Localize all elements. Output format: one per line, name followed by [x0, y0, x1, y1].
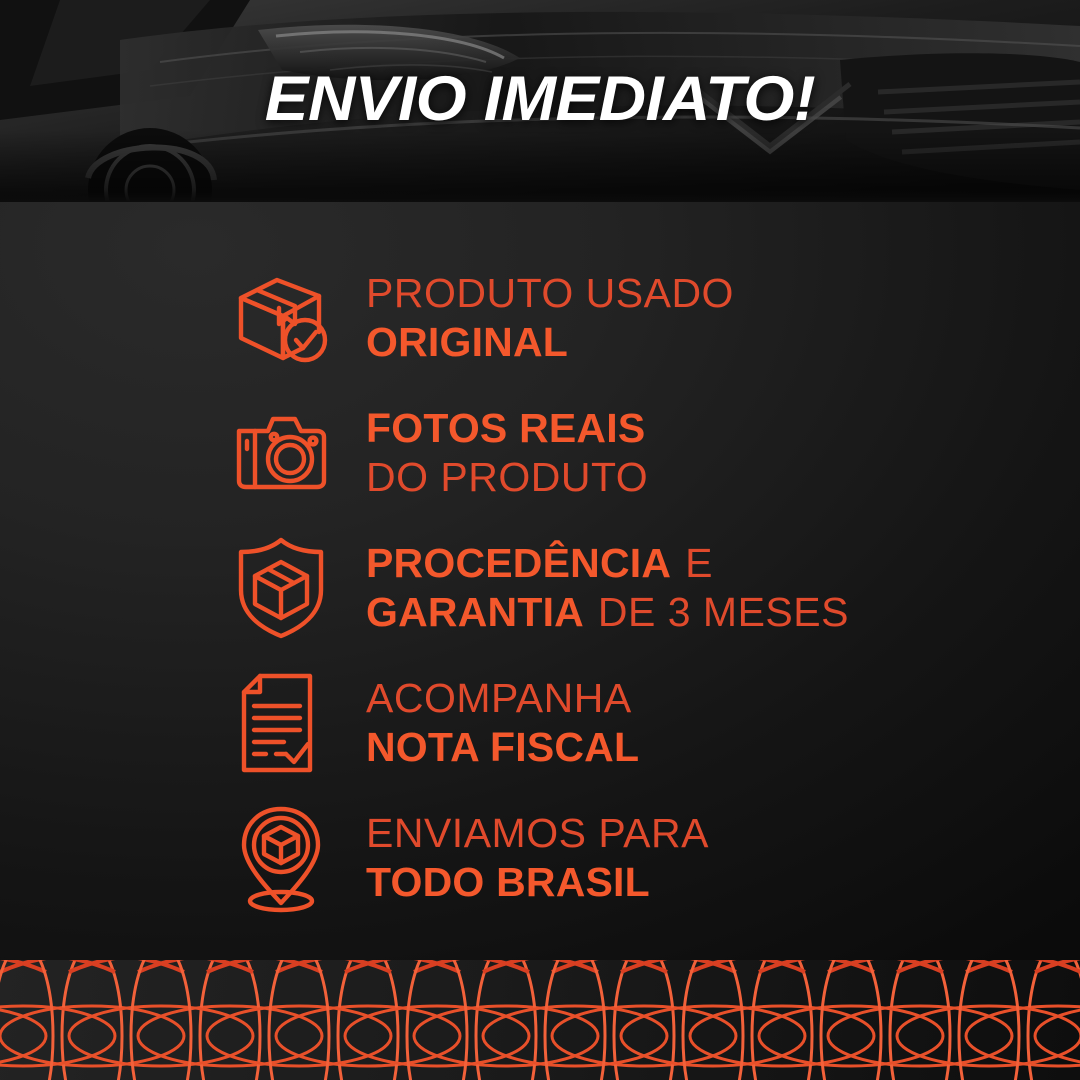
- feature-line-2: DO PRODUTO: [366, 453, 648, 502]
- promo-banner: ENVIO IMEDIATO! PROD: [0, 0, 1080, 1080]
- footer-pattern: [0, 960, 1080, 1080]
- feature-text: ACOMPANHA NOTA FISCAL: [340, 674, 639, 772]
- box-check-icon: [222, 266, 340, 370]
- feature-item-nota-fiscal: ACOMPANHA NOTA FISCAL: [222, 655, 1080, 790]
- feature-line-2: TODO BRASIL: [366, 858, 709, 907]
- header-section: ENVIO IMEDIATO!: [0, 0, 1080, 202]
- camera-icon: [222, 405, 340, 501]
- feature-line-2-bold: GARANTIA: [366, 589, 584, 635]
- invoice-document-icon: [222, 670, 340, 776]
- feature-item-todo-brasil: ENVIAMOS PARA TODO BRASIL: [222, 790, 1080, 925]
- feature-line-2: NOTA FISCAL: [366, 723, 639, 772]
- page-title: ENVIO IMEDIATO!: [0, 62, 1080, 136]
- feature-text: PROCEDÊNCIA E GARANTIA DE 3 MESES: [340, 539, 849, 637]
- feature-line-1: ACOMPANHA: [366, 674, 639, 723]
- feature-item-produto-original: PRODUTO USADO ORIGINAL: [222, 250, 1080, 385]
- feature-text: FOTOS REAIS DO PRODUTO: [340, 404, 648, 502]
- feature-line-1-bold: PROCEDÊNCIA: [366, 540, 671, 586]
- feature-line-1: ENVIAMOS PARA: [366, 809, 709, 858]
- location-pin-box-icon: [222, 803, 340, 913]
- feature-line-1: PRODUTO USADO: [366, 269, 734, 318]
- feature-line-1-thin: E: [673, 540, 713, 586]
- feature-line-2-thin: DE 3 MESES: [586, 589, 849, 635]
- feature-item-fotos-reais: FOTOS REAIS DO PRODUTO: [222, 385, 1080, 520]
- feature-line-2: GARANTIA DE 3 MESES: [366, 588, 849, 637]
- feature-line-1: PROCEDÊNCIA E: [366, 539, 849, 588]
- feature-text: ENVIAMOS PARA TODO BRASIL: [340, 809, 709, 907]
- feature-item-procedencia-garantia: PROCEDÊNCIA E GARANTIA DE 3 MESES: [222, 520, 1080, 655]
- feature-text: PRODUTO USADO ORIGINAL: [340, 269, 734, 367]
- feature-line-2: ORIGINAL: [366, 318, 734, 367]
- features-section: PRODUTO USADO ORIGINAL: [0, 202, 1080, 962]
- shield-box-icon: [222, 534, 340, 642]
- features-list: PRODUTO USADO ORIGINAL: [222, 250, 1080, 925]
- feature-line-1: FOTOS REAIS: [366, 404, 648, 453]
